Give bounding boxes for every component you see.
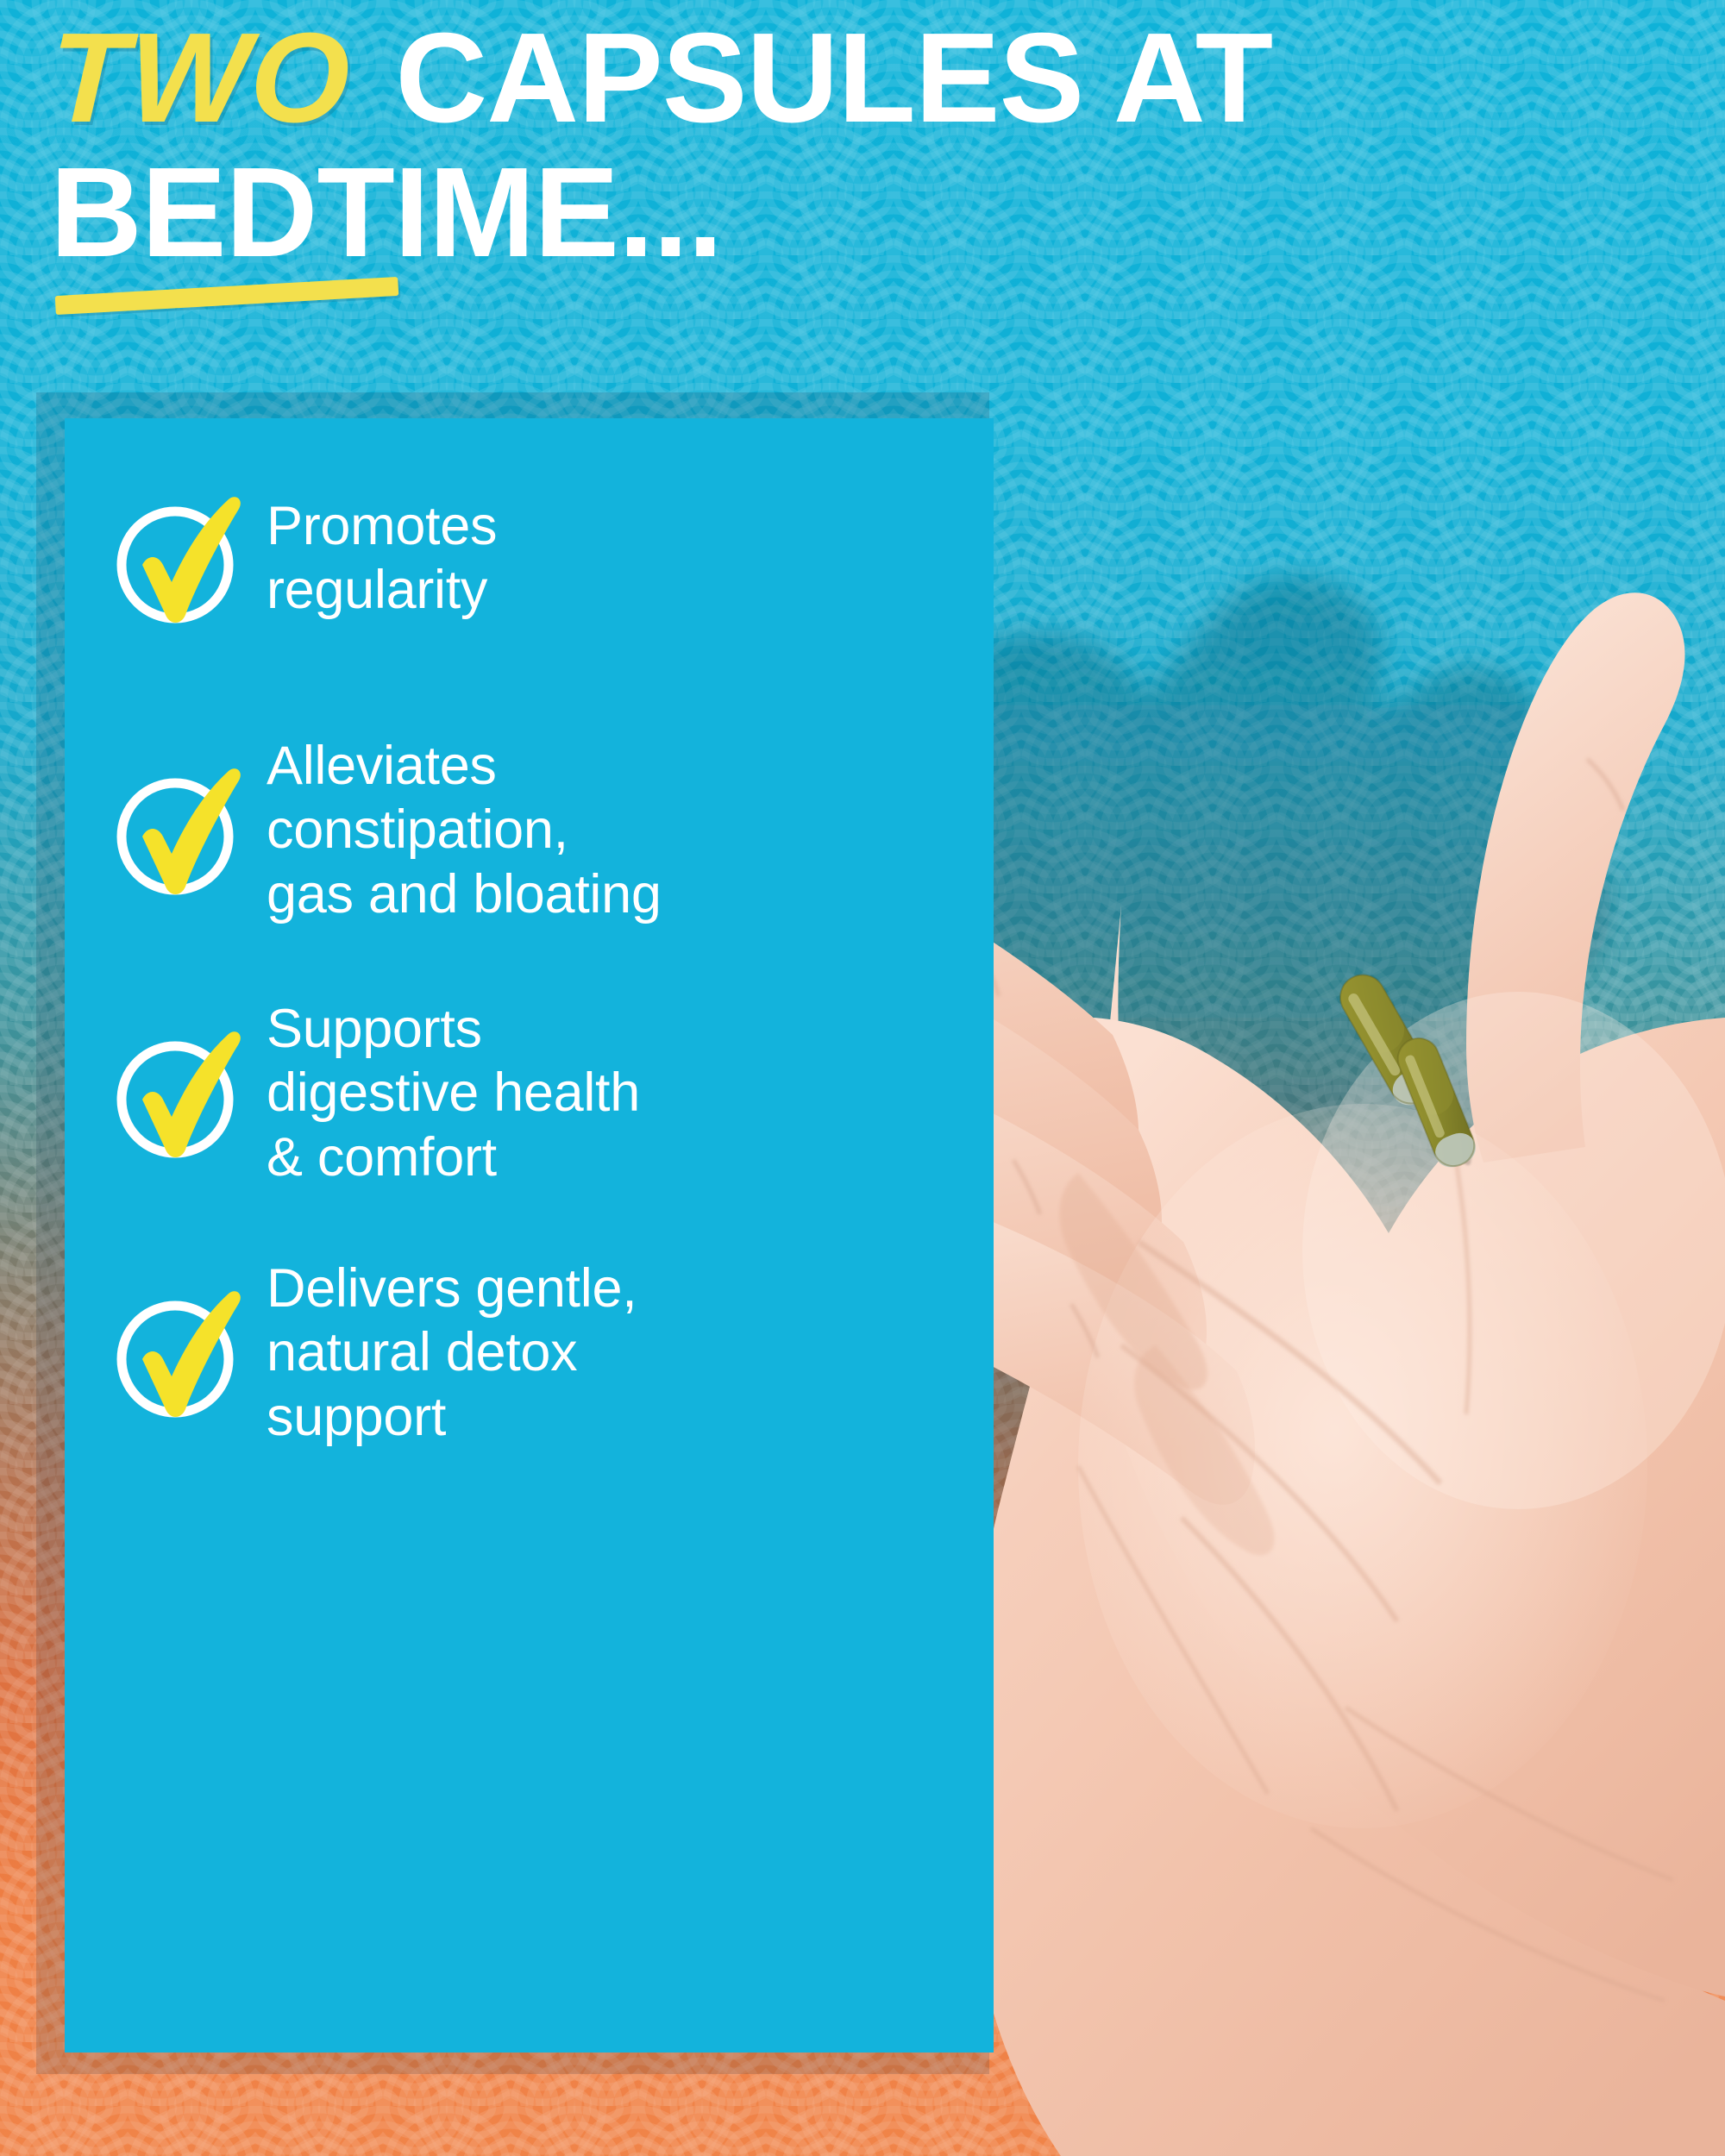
list-item: Alleviates constipation, gas and bloatin…	[106, 734, 959, 926]
list-item-label: Promotes regularity	[267, 494, 497, 623]
list-item-label: Alleviates constipation, gas and bloatin…	[267, 734, 662, 926]
list-item-label: Delivers gentle, natural detox support	[267, 1257, 637, 1449]
list-item: Supports digestive health & comfort	[106, 997, 959, 1189]
check-circle-icon	[106, 1280, 251, 1425]
check-circle-icon	[106, 757, 251, 902]
benefits-list: Promotes regularity Alleviates constipat…	[65, 418, 994, 2053]
headline-line-1-rest: CAPSULES AT	[361, 7, 1272, 149]
check-circle-icon	[106, 486, 251, 630]
headline-emphasis-word: TWO	[48, 17, 363, 140]
check-circle-icon	[106, 1020, 251, 1165]
list-item: Delivers gentle, natural detox support	[106, 1257, 959, 1449]
list-item-label: Supports digestive health & comfort	[267, 997, 640, 1189]
headline-line-1: TWO CAPSULES AT	[50, 17, 1559, 140]
headline: TWO CAPSULES AT BEDTIME...	[50, 17, 1559, 274]
list-item: Promotes regularity	[106, 486, 959, 630]
headline-line-2: BEDTIME...	[50, 152, 1559, 274]
promo-poster: TWO CAPSULES AT BEDTIME... Promotes regu…	[0, 0, 1725, 2156]
